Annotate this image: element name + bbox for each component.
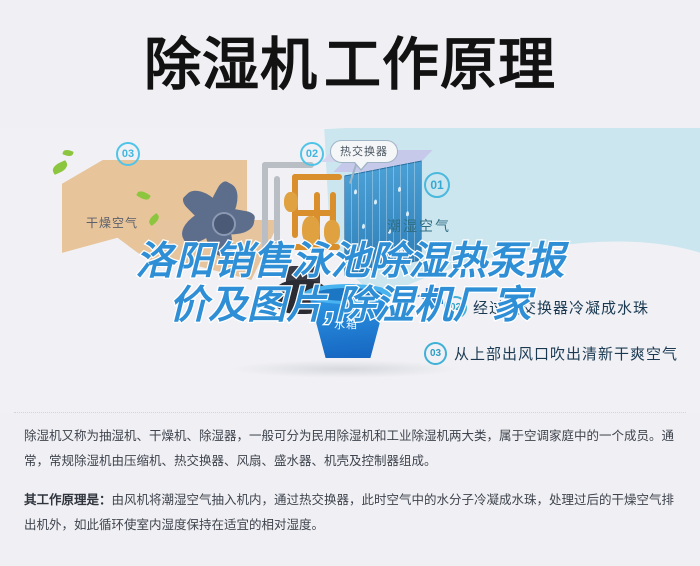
diagram-stage: 干燥空气 03	[0, 128, 700, 413]
humid-air-label: 潮湿空气	[387, 216, 451, 236]
fan-hub	[212, 212, 236, 236]
step-marker-02: 02	[444, 296, 467, 319]
step-line-02: 02 经过热交换器冷凝成水珠	[444, 296, 649, 319]
paragraph-2-text: 由风机将潮湿空气抽入机内，通过热交换器，此时空气中的水分子冷凝成水珠，处理过后的…	[24, 493, 674, 532]
dry-air-label: 干燥空气	[86, 214, 138, 231]
page-title: 除湿机工作原理	[0, 20, 700, 110]
paragraph-1: 除湿机又称为抽湿机、干燥机、除湿器，一般可分为民用除湿机和工业除湿机两大类，属于…	[24, 424, 679, 474]
title-part-1: 除湿机	[144, 33, 318, 97]
step-text-02: 经过热交换器冷凝成水珠	[473, 297, 649, 318]
marker-03-dry-air: 03	[116, 142, 140, 166]
heat-exchanger-callout: 热交换器	[330, 140, 398, 163]
water-tank-label: 水箱	[334, 316, 358, 332]
paragraph-2-label: 其工作原理是：	[24, 493, 112, 507]
marker-01-humid-air: 01	[424, 172, 450, 198]
paragraph-2: 其工作原理是：由风机将潮湿空气抽入机内，通过热交换器，此时空气中的水分子冷凝成水…	[24, 488, 679, 538]
leaf-icon	[51, 160, 69, 175]
step-text-03: 从上部出风口吹出清新干爽空气	[454, 343, 678, 364]
title-line: 除湿机工作原理	[144, 37, 556, 94]
infographic-page: 除湿机工作原理 干燥空气 03	[0, 0, 700, 566]
section-divider	[14, 412, 686, 413]
water-tank-illustration: 水箱	[300, 276, 396, 372]
step-line-03: 03 从上部出风口吹出清新干爽空气	[424, 342, 678, 365]
title-part-2: 工作原理	[324, 33, 556, 97]
description-text: 除湿机又称为抽湿机、干燥机、除湿器，一般可分为民用除湿机和工业除湿机两大类，属于…	[24, 424, 679, 538]
leaf-icon	[62, 148, 73, 157]
fan-illustration	[178, 170, 270, 274]
marker-02-heat-exchanger: 02	[300, 142, 324, 166]
ground-shadow	[230, 360, 460, 378]
